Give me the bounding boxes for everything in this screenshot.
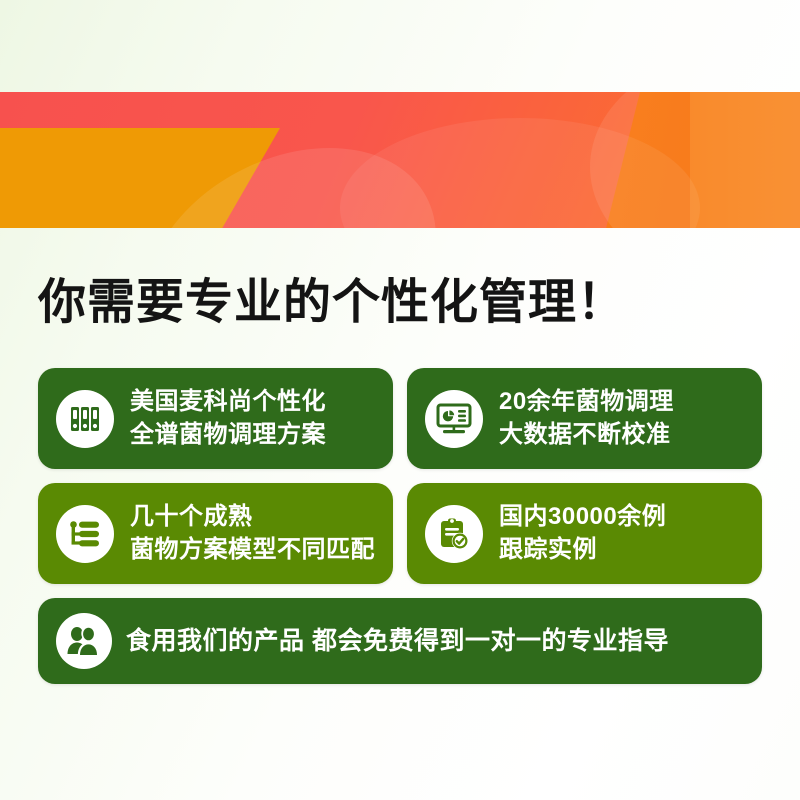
feature-card-bigdata[interactable]: 20余年菌物调理 大数据不断校准 xyxy=(407,368,762,469)
promo-banner: 首次关注菌物人群请先 咨询客服 根据身体情况 匹配个性化方案 xyxy=(0,92,800,228)
feature-card-models-text: 几十个成熟 菌物方案模型不同匹配 xyxy=(130,503,375,565)
card-line: 几十个成熟 xyxy=(130,503,375,532)
promo-page: 首次关注菌物人群请先 咨询客服 根据身体情况 匹配个性化方案 你需要专业的个性化… xyxy=(0,0,800,800)
feature-card-binders[interactable]: 美国麦科尚个性化 全谱菌物调理方案 xyxy=(38,368,393,469)
clipboard-check-icon xyxy=(425,505,483,563)
feature-card-binders-text: 美国麦科尚个性化 全谱菌物调理方案 xyxy=(130,388,326,450)
card-line: 20余年菌物调理 xyxy=(499,388,674,417)
card-line: 全谱菌物调理方案 xyxy=(130,421,326,450)
page-title: 你需要专业的个性化管理！ xyxy=(38,262,626,332)
card-line: 美国麦科尚个性化 xyxy=(130,388,326,417)
card-line: 大数据不断校准 xyxy=(499,421,674,450)
card-line: 国内30000余例 xyxy=(499,503,666,532)
card-line: 食用我们的产品 都会免费得到一对一的专业指导 xyxy=(126,626,669,656)
card-line: 菌物方案模型不同匹配 xyxy=(130,536,375,565)
hierarchy-list-icon xyxy=(56,505,114,563)
feature-card-bigdata-text: 20余年菌物调理 大数据不断校准 xyxy=(499,388,674,450)
feature-card-cases[interactable]: 国内30000余例 跟踪实例 xyxy=(407,483,762,584)
feature-card-guidance[interactable]: 食用我们的产品 都会免费得到一对一的专业指导 xyxy=(38,598,762,684)
feature-card-models[interactable]: 几十个成熟 菌物方案模型不同匹配 xyxy=(38,483,393,584)
users-icon xyxy=(56,613,112,669)
feature-card-guidance-text: 食用我们的产品 都会免费得到一对一的专业指导 xyxy=(126,626,669,656)
binders-icon xyxy=(56,390,114,448)
presentation-chart-icon xyxy=(425,390,483,448)
feature-card-cases-text: 国内30000余例 跟踪实例 xyxy=(499,503,666,565)
card-line: 跟踪实例 xyxy=(499,536,666,565)
feature-card-grid: 美国麦科尚个性化 全谱菌物调理方案 xyxy=(38,368,762,684)
